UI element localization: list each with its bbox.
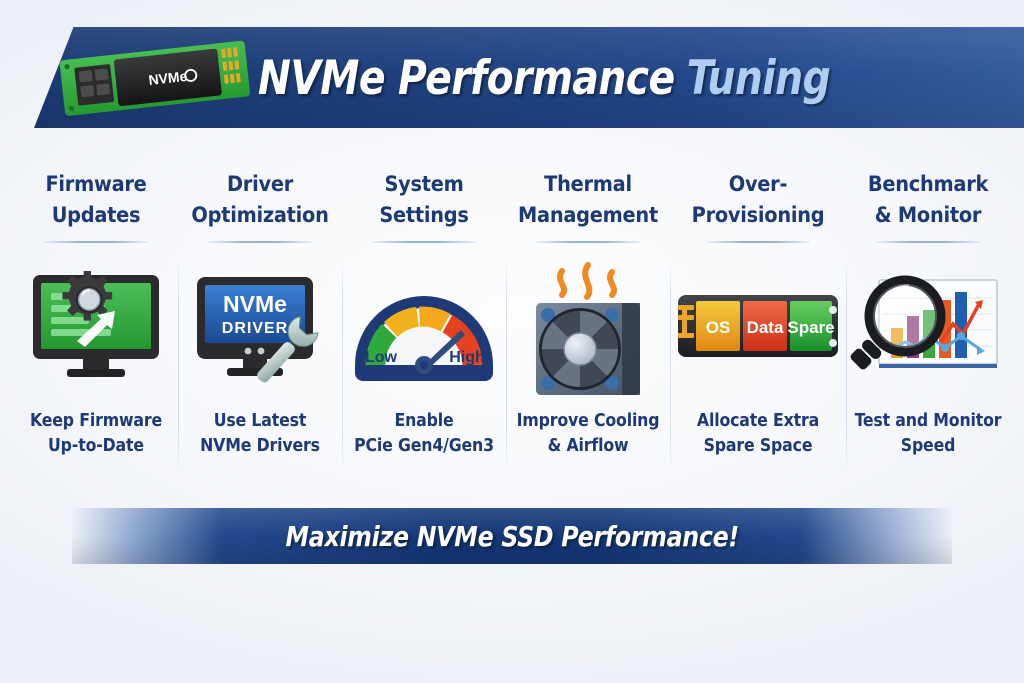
tips-columns: FirmwareUpdates: [14, 168, 1010, 490]
cooling-fan-heatwaves-icon: [522, 259, 654, 395]
gauge-low-label: Low: [365, 349, 398, 366]
footer-text: Maximize NVMe SSD Performance!: [285, 520, 738, 553]
column-heading: ThermalManagement: [518, 168, 658, 232]
heading-rule: [208, 241, 312, 243]
column-caption: EnablePCie Gen4/Gen3: [354, 409, 494, 459]
column-caption: Test and MonitorSpeed: [855, 409, 1002, 459]
footer-banner: Maximize NVMe SSD Performance!: [72, 508, 952, 564]
column-system-settings: SystemSettings Low High EnablePCie Gen4/…: [342, 168, 506, 490]
monitor-gear-arrow-icon: [27, 271, 165, 383]
monitor-wrench-icon: NVMe DRIVER: [191, 271, 329, 383]
column-over-provisioning: Over-Provisioning: [670, 168, 846, 490]
monitor-text-primary: NVMe: [223, 291, 287, 317]
partition-label-os: OS: [706, 318, 731, 337]
column-caption: Improve Cooling& Airflow: [517, 409, 660, 459]
page-title: NVMe Performance Tuning: [258, 44, 830, 112]
column-heading: SystemSettings: [379, 168, 468, 232]
column-caption: Use LatestNVMe Drivers: [200, 409, 320, 459]
column-firmware-updates: FirmwareUpdates: [14, 168, 178, 490]
icon-container: NVMe DRIVER: [191, 259, 329, 395]
header: NVMe NVMe Performance Tuning: [0, 0, 1024, 150]
magnifier-bar-chart-icon: [849, 272, 1007, 382]
column-driver-optimization: DriverOptimization NVMe DRIVER: [178, 168, 342, 490]
column-caption: Allocate ExtraSpare Space: [697, 409, 819, 459]
column-caption: Keep FirmwareUp-to-Date: [30, 409, 162, 459]
column-benchmark-monitor: Benchmark& Monitor: [846, 168, 1010, 490]
speed-gauge-icon: Low High: [349, 273, 499, 381]
column-thermal-management: ThermalManagement: [506, 168, 670, 490]
icon-container: OS Data Spare: [670, 259, 846, 395]
monitor-text-secondary: DRIVER: [222, 320, 288, 337]
column-heading: Benchmark& Monitor: [868, 168, 988, 232]
icon-container: [27, 259, 165, 395]
heading-rule: [44, 241, 148, 243]
column-heading: FirmwareUpdates: [45, 168, 146, 232]
icon-container: [849, 259, 1007, 395]
footer: Maximize NVMe SSD Performance!: [0, 508, 1024, 568]
icon-container: Low High: [349, 259, 499, 395]
partition-label-data: Data: [747, 318, 784, 337]
gauge-high-label: High: [449, 349, 485, 366]
page-title-accent: Tuning: [687, 51, 830, 106]
column-heading: Over-Provisioning: [692, 168, 825, 232]
heading-rule: [876, 241, 980, 243]
heading-rule: [372, 241, 476, 243]
partition-label-spare: Spare: [787, 318, 834, 337]
page-title-main: NVMe Performance: [258, 51, 675, 106]
heading-rule: [536, 241, 640, 243]
heading-rule: [706, 241, 810, 243]
column-heading: DriverOptimization: [191, 168, 328, 232]
heat-waves-icon: [560, 265, 614, 297]
ssd-partitions-icon: OS Data Spare: [670, 281, 846, 373]
icon-container: [522, 259, 654, 395]
